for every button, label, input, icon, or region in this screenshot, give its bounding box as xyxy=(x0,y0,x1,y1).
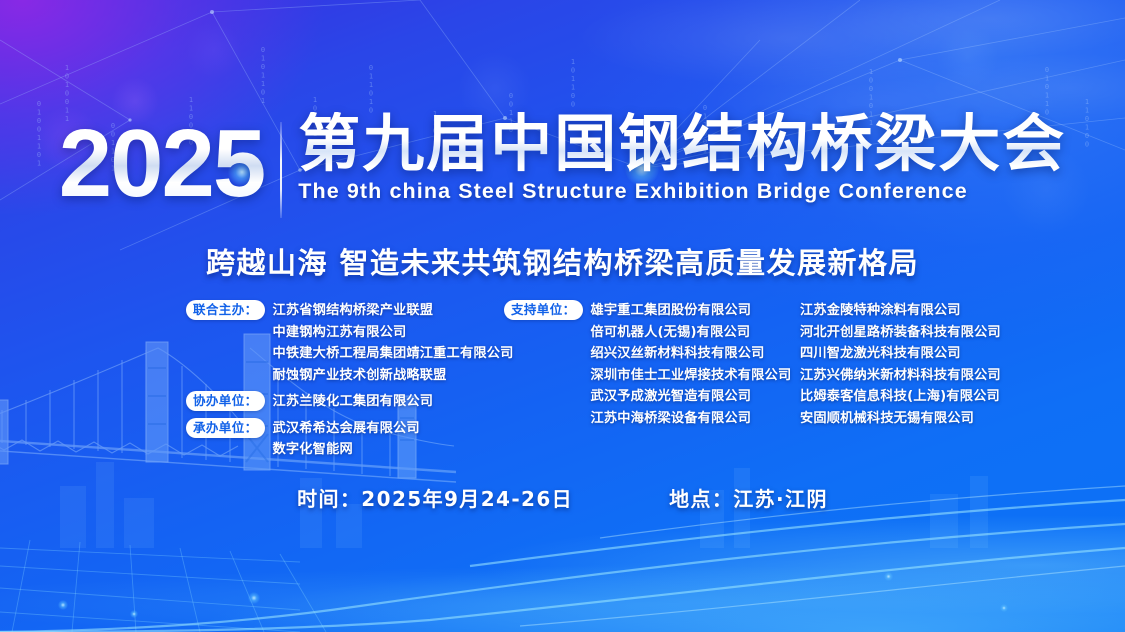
organizations-column-middle: 支持单位： 雄宇重工集团股份有限公司 倍可机器人(无锡)有限公司 绍兴汉丝新材料… xyxy=(504,300,804,434)
organizations-column-right: 江苏金陵特种涂料有限公司 河北开创星路桥装备科技有限公司 四川智龙激光科技有限公… xyxy=(800,300,1120,429)
org-name: 绍兴汉丝新材料科技有限公司 xyxy=(591,343,792,365)
year-2025: 2025 xyxy=(59,118,265,210)
org-name: 四川智龙激光科技有限公司 xyxy=(800,343,1120,365)
organizations-column-left: 联合主办： 江苏省钢结构桥梁产业联盟 中建钢构江苏有限公司 中铁建大桥工程局集团… xyxy=(186,300,516,466)
org-name: 雄宇重工集团股份有限公司 xyxy=(591,300,792,322)
sparkle-dot xyxy=(1000,604,1008,612)
org-name: 深圳市佳士工业焊接技术有限公司 xyxy=(591,365,792,387)
title-divider xyxy=(280,122,282,218)
org-group: 支持单位： 雄宇重工集团股份有限公司 倍可机器人(无锡)有限公司 绍兴汉丝新材料… xyxy=(504,300,804,429)
event-date: 时间：2025年9月24-26日 xyxy=(297,483,573,512)
org-name-list: 雄宇重工集团股份有限公司 倍可机器人(无锡)有限公司 绍兴汉丝新材料科技有限公司… xyxy=(591,300,792,429)
org-name: 江苏金陵特种涂料有限公司 xyxy=(800,300,1120,322)
org-name: 比姆泰客信息科技(上海)有限公司 xyxy=(800,386,1120,408)
org-name-list: 江苏省钢结构桥梁产业联盟 中建钢构江苏有限公司 中铁建大桥工程局集团靖江重工有限… xyxy=(273,300,514,386)
org-name: 倍可机器人(无锡)有限公司 xyxy=(591,322,792,344)
org-name: 武汉希希达会展有限公司 xyxy=(273,418,420,440)
footer-info: 时间：2025年9月24-26日 地点：江苏·江阴 xyxy=(0,483,1125,512)
org-label-pill: 联合主办： xyxy=(186,300,265,320)
org-name-list: 江苏兰陵化工集团有限公司 xyxy=(273,391,434,413)
org-name: 江苏省钢结构桥梁产业联盟 xyxy=(273,300,514,322)
org-name-list: 武汉希希达会展有限公司 数字化智能网 xyxy=(273,418,420,461)
org-group: 协办单位： 江苏兰陵化工集团有限公司 xyxy=(186,391,516,413)
sparkle-dot xyxy=(884,572,893,581)
org-name: 耐蚀钢产业技术创新战略联盟 xyxy=(273,365,514,387)
org-name: 江苏兰陵化工集团有限公司 xyxy=(273,391,434,413)
organizations-section: 联合主办： 江苏省钢结构桥梁产业联盟 中建钢构江苏有限公司 中铁建大桥工程局集团… xyxy=(0,300,1125,470)
title-row: 2025 第九届中国钢结构桥梁大会 The 9th china Steel St… xyxy=(0,112,1125,218)
org-name: 数字化智能网 xyxy=(273,439,420,461)
org-name: 河北开创星路桥装备科技有限公司 xyxy=(800,322,1120,344)
org-name: 江苏中海桥梁设备有限公司 xyxy=(591,408,792,430)
org-name: 武汉予成激光智造有限公司 xyxy=(591,386,792,408)
conference-poster: 01001101 1010011 001101 110010 0101101 1… xyxy=(0,0,1125,632)
org-name: 江苏兴佛纳米新材料科技有限公司 xyxy=(800,365,1120,387)
org-label-pill: 支持单位： xyxy=(504,300,583,320)
sparkle-dot xyxy=(130,610,138,618)
org-name: 中铁建大桥工程局集团靖江重工有限公司 xyxy=(273,343,514,365)
org-group: 联合主办： 江苏省钢结构桥梁产业联盟 中建钢构江苏有限公司 中铁建大桥工程局集团… xyxy=(186,300,516,386)
org-label-pill: 承办单位： xyxy=(186,418,265,438)
title-texts: 第九届中国钢结构桥梁大会 The 9th china Steel Structu… xyxy=(298,112,1066,204)
conference-slogan: 跨越山海 智造未来共筑钢结构桥梁高质量发展新格局 xyxy=(0,240,1125,282)
org-name-list: 江苏金陵特种涂料有限公司 河北开创星路桥装备科技有限公司 四川智龙激光科技有限公… xyxy=(800,300,1120,429)
org-group: 承办单位： 武汉希希达会展有限公司 数字化智能网 xyxy=(186,418,516,461)
conference-title-en: The 9th china Steel Structure Exhibition… xyxy=(298,179,1066,204)
sparkle-dot xyxy=(58,600,68,610)
sparkle-dot xyxy=(248,592,260,604)
conference-title-cn: 第九届中国钢结构桥梁大会 xyxy=(298,112,1066,175)
org-name: 安固顺机械科技无锡有限公司 xyxy=(800,408,1120,430)
org-label-pill: 协办单位： xyxy=(186,391,265,411)
org-name: 中建钢构江苏有限公司 xyxy=(273,322,514,344)
event-location: 地点：江苏·江阴 xyxy=(669,483,828,512)
title-block: 2025 第九届中国钢结构桥梁大会 The 9th china Steel St… xyxy=(0,112,1125,218)
